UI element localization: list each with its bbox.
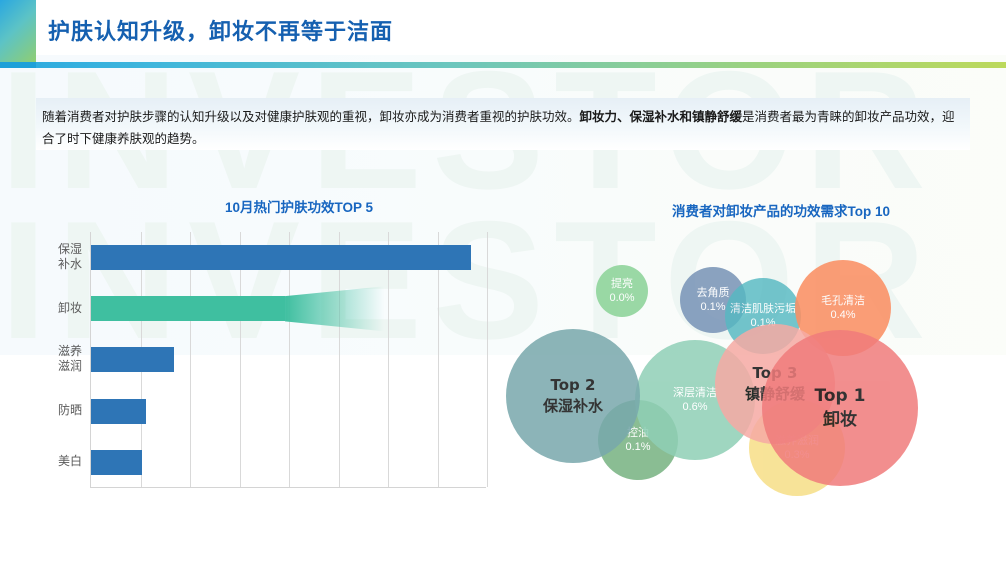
bubble-value: 0.6%: [682, 400, 707, 414]
bubble-label: 提亮: [611, 277, 633, 291]
bubble-sublabel: 保湿补水: [543, 396, 603, 417]
bubble-label: Top 1: [815, 384, 866, 408]
bubble-chart-title: 消费者对卸妆产品的功效需求Top 10: [672, 200, 890, 220]
bar-卸妆: [91, 296, 285, 321]
bubble-label: 毛孔清洁: [821, 294, 865, 308]
header-accent-block: [0, 0, 36, 62]
bar-category-label: 卸妆: [22, 301, 82, 316]
bar-chart-row: 卸妆: [91, 283, 486, 334]
bar-category-label: 防晒: [22, 403, 82, 418]
bubble-value: 0.4%: [830, 308, 855, 322]
grid-line: [487, 232, 488, 487]
bubble-chart: 提亮0.0%去角质0.1%清洁肌肤污垢0.1%控油0.1%滋养滋润0.3%毛孔清…: [505, 248, 995, 513]
page-title: 护肤认知升级，卸妆不再等于洁面: [48, 14, 393, 46]
bar-chart-row: 防晒: [91, 386, 486, 437]
bubble-卸妆: Top 1卸妆: [762, 330, 918, 486]
bar-chart-row: 保湿补水: [91, 232, 486, 283]
bar-chart: 保湿补水卸妆滋养滋润防晒美白: [18, 228, 488, 494]
intro-panel: 随着消费者对护肤步骤的认知升级以及对健康护肤观的重视，卸妆亦成为消费者重视的护肤…: [36, 98, 970, 150]
slide-canvas: INVESTOR INVESTOR 护肤认知升级，卸妆不再等于洁面 随着消费者对…: [0, 0, 1006, 566]
bar-滋养滋润: [91, 347, 174, 372]
bubble-label: 深层清洁: [673, 386, 717, 400]
bubble-label: 清洁肌肤污垢: [730, 302, 796, 316]
bubble-提亮: 提亮0.0%: [596, 265, 648, 317]
bar-保湿补水: [91, 245, 471, 270]
bubble-value: 0.1%: [625, 440, 650, 454]
intro-text-part1: 随着消费者对护肤步骤的认知升级以及对健康护肤观的重视，卸妆亦成为消费者重视的护肤…: [42, 109, 580, 124]
bubble-sublabel: 卸妆: [823, 408, 857, 432]
bubble-label: 去角质: [697, 286, 730, 300]
bar-category-label: 滋养滋润: [22, 344, 82, 374]
bubble-保湿补水: Top 2保湿补水: [506, 329, 640, 463]
bar-chart-row: 滋养滋润: [91, 334, 486, 385]
bar-category-label: 美白: [22, 454, 82, 469]
header-divider-cap: [0, 62, 36, 68]
bar-category-label: 保湿补水: [22, 242, 82, 272]
bubble-value: 0.1%: [700, 300, 725, 314]
intro-paragraph: 随着消费者对护肤步骤的认知升级以及对健康护肤观的重视，卸妆亦成为消费者重视的护肤…: [36, 98, 970, 150]
bar-防晒: [91, 399, 146, 424]
bar-chart-plot-area: 保湿补水卸妆滋养滋润防晒美白: [90, 232, 486, 488]
header-divider: [0, 62, 1006, 68]
bar-chart-title: 10月热门护肤功效TOP 5: [225, 196, 373, 216]
intro-text-bold: 卸妆力、保湿补水和镇静舒缓: [580, 109, 743, 124]
bar-highlight-flare: [285, 286, 384, 331]
bubble-label: Top 2: [551, 375, 596, 396]
bar-chart-row: 美白: [91, 437, 486, 488]
bar-美白: [91, 450, 142, 475]
bubble-value: 0.0%: [609, 291, 634, 305]
